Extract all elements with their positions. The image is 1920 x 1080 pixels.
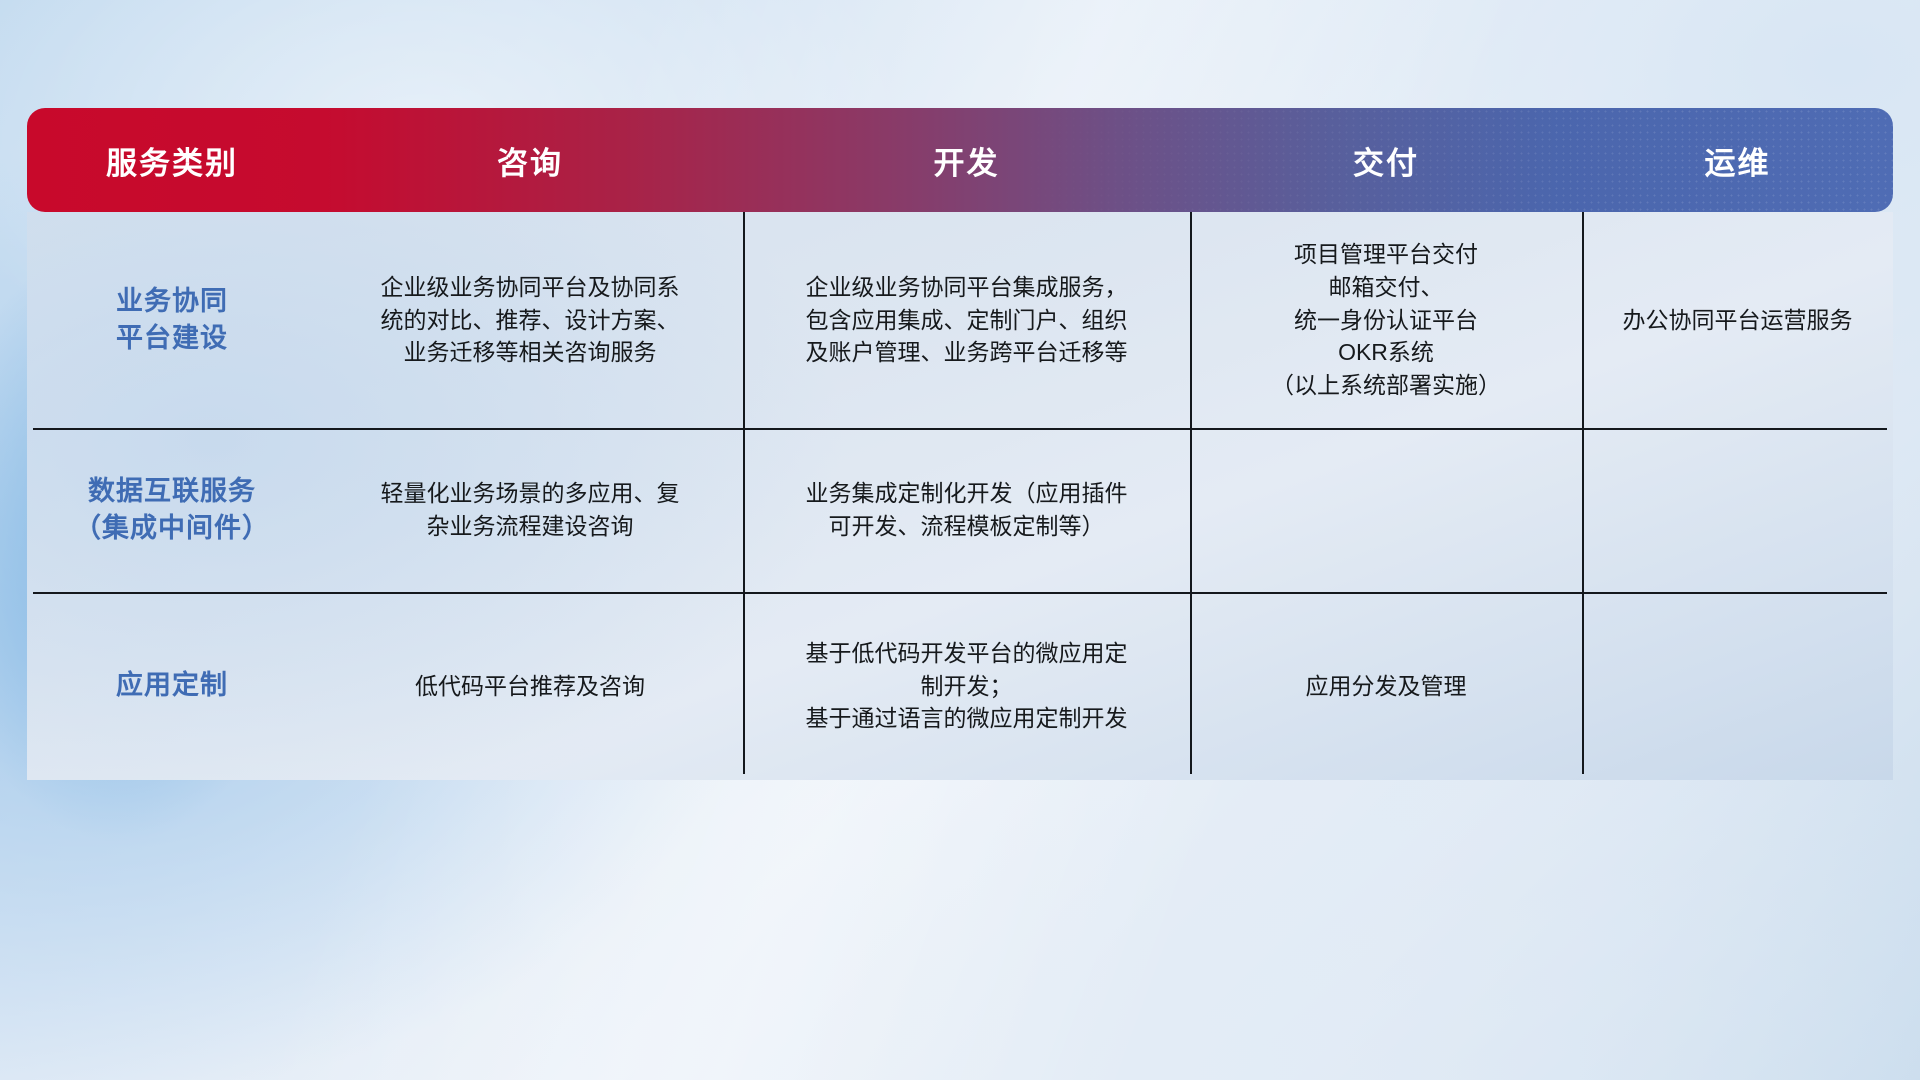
cell-row1-development: 企业级业务协同平台集成服务， 包含应用集成、定制门户、组织 及账户管理、业务跨平… [743,212,1190,428]
cell-text: 基于低代码开发平台的微应用定 制开发； 基于通过语言的微应用定制开发 [806,637,1128,735]
cell-row1-operations: 办公协同平台运营服务 [1582,212,1893,428]
cell-text: 办公协同平台运营服务 [1623,304,1853,337]
cell-text: 轻量化业务场景的多应用、复 杂业务流程建设咨询 [381,477,680,542]
cell-row3-operations [1582,592,1893,780]
cell-text: 低代码平台推荐及咨询 [415,670,645,703]
cell-row3-delivery: 应用分发及管理 [1190,592,1582,780]
row-label-app-customization: 应用定制 [116,667,228,704]
cell-text: 企业级业务协同平台及协同系 统的对比、推荐、设计方案、 业务迁移等相关咨询服务 [381,271,680,369]
table-body: 业务协同 平台建设 企业级业务协同平台及协同系 统的对比、推荐、设计方案、 业务… [27,212,1893,780]
column-header-delivery: 交付 [1190,138,1582,183]
row-label-data-interconnect: 数据互联服务 （集成中间件） [74,473,270,548]
column-header-category: 服务类别 [27,138,317,183]
column-header-consulting: 咨询 [317,138,743,183]
cell-row1-consulting: 企业级业务协同平台及协同系 统的对比、推荐、设计方案、 业务迁移等相关咨询服务 [317,212,743,428]
cell-row1-delivery: 项目管理平台交付 邮箱交付、 统一身份认证平台 OKR系统 （以上系统部署实施） [1190,212,1582,428]
table-row: 业务协同 平台建设 [27,212,317,428]
cell-row3-development: 基于低代码开发平台的微应用定 制开发； 基于通过语言的微应用定制开发 [743,592,1190,780]
cell-text: 企业级业务协同平台集成服务， 包含应用集成、定制门户、组织 及账户管理、业务跨平… [806,271,1128,369]
table-row: 数据互联服务 （集成中间件） [27,428,317,592]
column-header-development: 开发 [743,138,1190,183]
cell-row2-delivery [1190,428,1582,592]
cell-text: 应用分发及管理 [1306,670,1467,703]
cell-text: 项目管理平台交付 邮箱交付、 统一身份认证平台 OKR系统 （以上系统部署实施） [1271,238,1501,401]
cell-text: 业务集成定制化开发（应用插件 可开发、流程模板定制等） [806,477,1128,542]
service-matrix-table: 服务类别 咨询 开发 交付 运维 业务协同 平台建设 企业级业务协同平台及协同系… [27,108,1893,780]
row-label-business-collaboration: 业务协同 平台建设 [116,283,228,358]
table-row: 应用定制 [27,592,317,780]
cell-row2-consulting: 轻量化业务场景的多应用、复 杂业务流程建设咨询 [317,428,743,592]
cell-row2-operations [1582,428,1893,592]
cell-row3-consulting: 低代码平台推荐及咨询 [317,592,743,780]
column-header-operations: 运维 [1582,138,1893,183]
cell-row2-development: 业务集成定制化开发（应用插件 可开发、流程模板定制等） [743,428,1190,592]
table-header-row: 服务类别 咨询 开发 交付 运维 [27,108,1893,212]
